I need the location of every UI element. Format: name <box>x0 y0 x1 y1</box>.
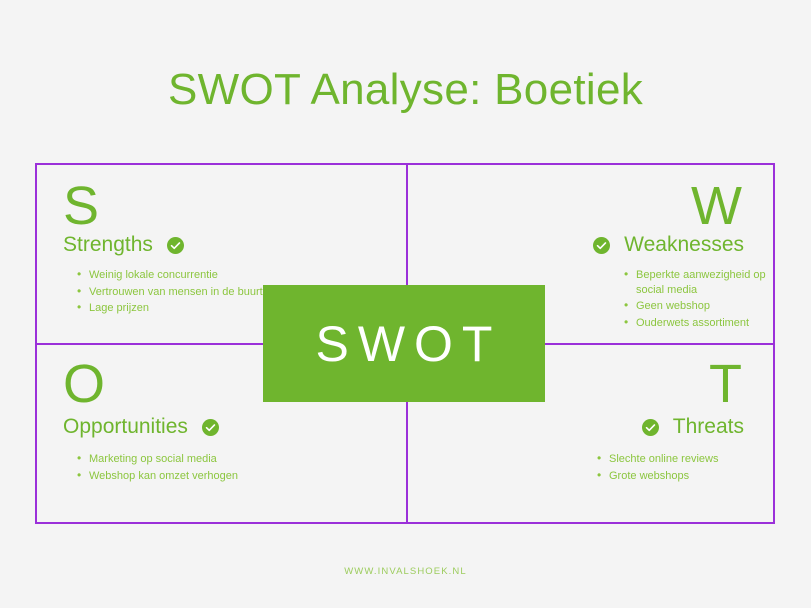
quadrant-label-threats: Threats <box>673 415 744 439</box>
quadrant-letter-s: S <box>63 179 99 233</box>
bullet-list-weaknesses: Beperkte aanwezigheid op social media Ge… <box>624 268 789 332</box>
list-item: Webshop kan omzet verhogen <box>77 469 292 484</box>
center-swot-badge: SWOT <box>263 285 545 402</box>
quadrant-letter-t: T <box>709 357 742 411</box>
list-item: Ouderwets assortiment <box>624 316 789 331</box>
quadrant-letter-o: O <box>63 357 105 411</box>
list-item: Beperkte aanwezigheid op social media <box>624 268 789 297</box>
list-item: Vertrouwen van mensen in de buurt <box>77 285 277 300</box>
check-circle-icon <box>202 419 219 436</box>
list-item: Lage prijzen <box>77 301 277 316</box>
list-item: Slechte online reviews <box>597 452 767 467</box>
footer-website: WWW.INVALSHOEK.NL <box>0 566 811 577</box>
check-circle-icon <box>642 419 659 436</box>
bullet-list-strengths: Weinig lokale concurrentie Vertrouwen va… <box>77 268 277 318</box>
list-item: Grote webshops <box>597 469 767 484</box>
quadrant-heading-opportunities: Opportunities <box>63 415 219 439</box>
bullet-list-threats: Slechte online reviews Grote webshops <box>597 452 767 485</box>
list-item: Geen webshop <box>624 299 789 314</box>
list-item: Marketing op social media <box>77 452 292 467</box>
list-item: Weinig lokale concurrentie <box>77 268 277 283</box>
quadrant-label-strengths: Strengths <box>63 233 153 257</box>
page-title: SWOT Analyse: Boetiek <box>0 62 811 118</box>
quadrant-heading-weaknesses: Weaknesses <box>593 233 744 257</box>
bullet-list-opportunities: Marketing op social media Webshop kan om… <box>77 452 292 485</box>
check-circle-icon <box>167 237 184 254</box>
quadrant-label-weaknesses: Weaknesses <box>624 233 744 257</box>
quadrant-letter-w: W <box>691 179 742 233</box>
center-swot-label: SWOT <box>307 319 502 369</box>
quadrant-heading-threats: Threats <box>642 415 744 439</box>
quadrant-label-opportunities: Opportunities <box>63 415 188 439</box>
check-circle-icon <box>593 237 610 254</box>
quadrant-heading-strengths: Strengths <box>63 233 184 257</box>
